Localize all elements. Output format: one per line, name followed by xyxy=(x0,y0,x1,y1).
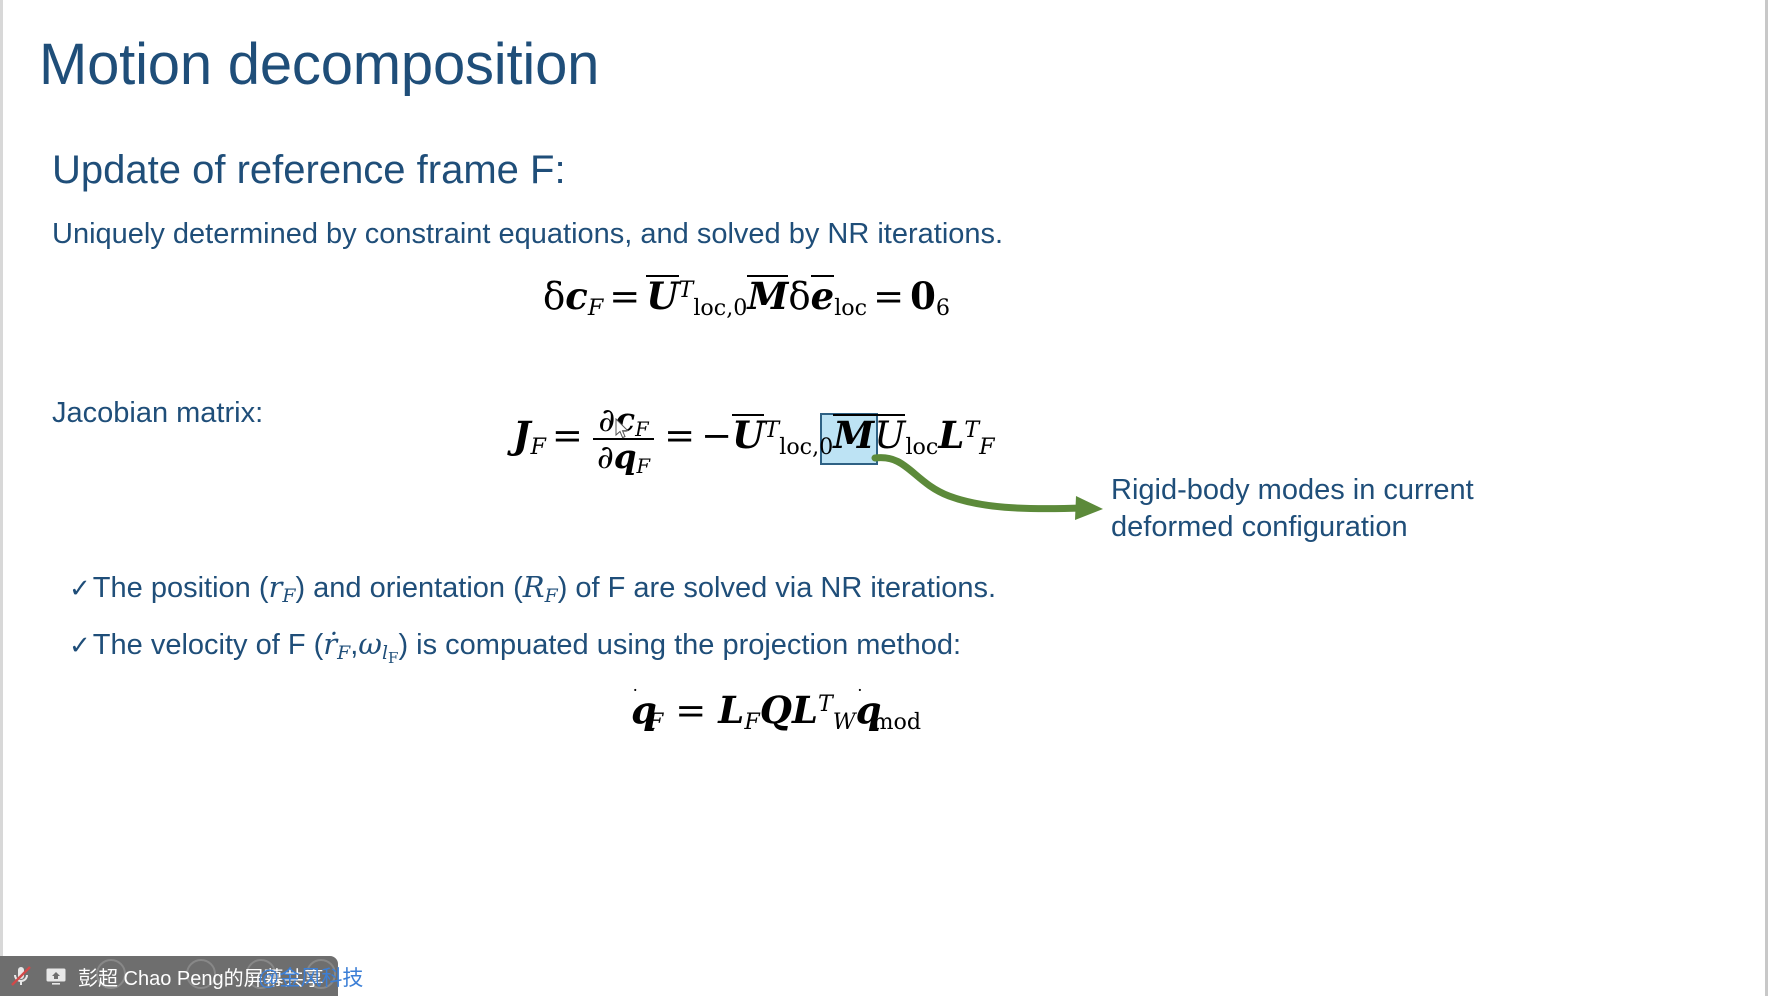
j-matrix: J xyxy=(513,413,531,457)
page-title: Motion decomposition xyxy=(39,34,599,97)
callout-line-2: deformed configuration xyxy=(1111,509,1531,546)
u-bar-matrix: U xyxy=(732,414,764,454)
c-subscript: F xyxy=(588,295,603,321)
equals-sign: = xyxy=(603,275,646,318)
lead-paragraph: Uniquely determined by constraint equati… xyxy=(52,218,1003,251)
watermark-label: @金风科技 xyxy=(258,962,363,992)
equals-sign: = xyxy=(546,414,589,457)
u-bar-matrix: U xyxy=(646,275,678,315)
u-loc-matrix: U xyxy=(874,414,905,454)
list-item: ✓ The velocity of F (ṙF,ωlF) is compuate… xyxy=(69,627,961,662)
l-transpose: T xyxy=(964,417,979,443)
c-vector: c xyxy=(565,274,588,318)
u-subscript: loc,0 xyxy=(693,295,747,321)
q-subscript: F xyxy=(637,455,651,478)
partial-symbol: ∂ xyxy=(598,401,615,439)
list-item-label: The position (rF) and orientation (RF) o… xyxy=(93,570,996,605)
e-subscript: loc xyxy=(834,295,867,321)
delta-symbol-2: δ xyxy=(788,275,810,318)
l-matrix: L xyxy=(718,688,744,732)
check-icon: ✓ xyxy=(69,630,91,661)
mouse-cursor-icon xyxy=(615,418,631,440)
list-item-label: The velocity of F (ṙF,ωlF) is compuated … xyxy=(93,627,961,662)
l-w-subscript: W xyxy=(833,709,856,735)
callout-note: Rigid-body modes in current deformed con… xyxy=(1111,472,1531,546)
fraction-denominator: ∂qF xyxy=(593,438,654,474)
list-item: ✓ The position (rF) and orientation (RF)… xyxy=(69,570,996,605)
u-transpose: T xyxy=(679,277,694,303)
q-matrix: Q xyxy=(760,688,792,732)
check-icon: ✓ xyxy=(69,573,91,604)
zero-subscript: 6 xyxy=(936,295,950,321)
equals-sign: = xyxy=(663,689,718,732)
j-subscript: F xyxy=(531,434,546,460)
velocity-equation: q̇F=LFQLTWq̇mod xyxy=(631,692,921,729)
section-heading: Update of reference frame F: xyxy=(52,148,566,193)
u-transpose: T xyxy=(764,417,779,443)
screen-share-icon[interactable] xyxy=(43,963,69,989)
presentation-slide: Motion decomposition Update of reference… xyxy=(0,0,1768,996)
callout-line-1: Rigid-body modes in current xyxy=(1111,472,1531,509)
l-w-transpose: T xyxy=(818,691,833,717)
equals-sign-2: = xyxy=(658,414,701,457)
l-matrix: L xyxy=(938,413,964,457)
e-bar-vector: e xyxy=(811,275,835,315)
equals-sign-2: = xyxy=(867,275,910,318)
l-subscript: F xyxy=(744,709,759,735)
partial-symbol-2: ∂ xyxy=(597,438,614,476)
zero-vector: 0 xyxy=(910,274,936,318)
l-w-matrix: L xyxy=(792,688,818,732)
callout-arrow-icon xyxy=(871,452,1111,534)
microphone-muted-icon[interactable] xyxy=(8,963,34,989)
m-bar-matrix: M xyxy=(833,414,874,454)
jacobian-label: Jacobian matrix: xyxy=(52,397,263,430)
c-subscript: F xyxy=(635,418,649,441)
u-subscript: loc,0 xyxy=(779,434,833,460)
constraint-equation: δcF=UTloc,0Mδeloc=06 xyxy=(543,276,950,315)
delta-symbol: δ xyxy=(543,275,565,318)
q-mod-subscript: mod xyxy=(872,709,921,735)
q-subscript: F xyxy=(648,709,663,735)
m-bar-matrix: M xyxy=(747,275,788,315)
q-vector: q xyxy=(614,437,637,476)
minus-sign: − xyxy=(701,414,732,457)
